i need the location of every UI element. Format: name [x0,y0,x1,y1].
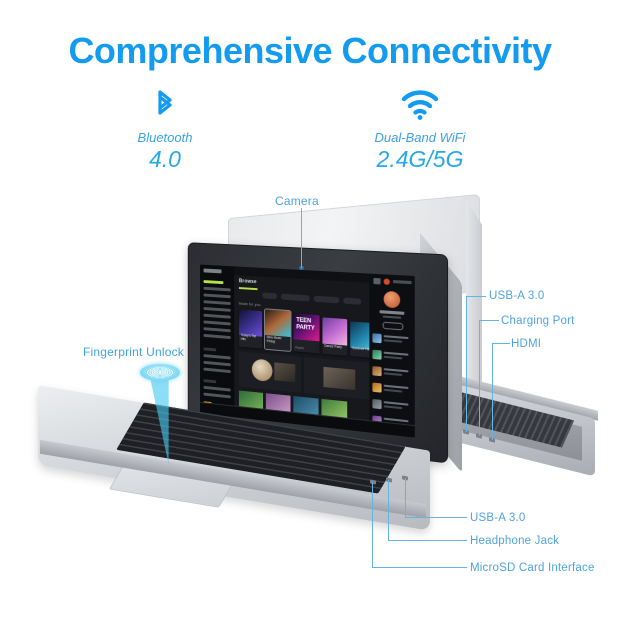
wifi-icon [330,88,510,124]
wifi-value: 2.4G/5G [330,146,510,173]
callout-fingerprint-unlock: Fingerprint Unlock [83,345,184,359]
profile-meta [383,315,402,318]
sidebar-item-chill-vibes[interactable] [204,386,231,392]
album-title: New Music Friday [267,335,291,345]
follow-button[interactable] [383,322,404,331]
sidebar-item-liked-songs[interactable] [204,320,231,325]
album-art: TEEN PARTY [293,313,319,341]
friend-item[interactable] [372,333,411,348]
sidebar-item-made-for-you[interactable] [204,307,231,312]
section-subtitle: Made for you [239,302,261,307]
wide-card-art [323,367,355,390]
bluetooth-label: Bluetooth [105,130,225,145]
friend-avatar [372,383,381,393]
screen-app: Browse Made for you Today's Top Hits New… [200,264,415,437]
sidebar-item-browse[interactable] [204,287,231,292]
sidebar-item-workout-mix[interactable] [204,393,231,399]
sidebar-item-albums[interactable] [204,327,231,332]
sidebar-section-stations [204,347,217,351]
wide-card[interactable] [239,351,301,392]
friend-avatar [372,333,381,343]
friend-item[interactable] [372,366,411,382]
sidebar-item-recently-played[interactable] [204,314,231,319]
friend-track [384,372,403,376]
album-title: Dance Party [324,343,341,348]
album-card[interactable]: Today's Top Hits [239,309,262,348]
page-title: Comprehensive Connectivity [0,30,620,72]
wide-card-art-2 [274,362,295,382]
leader-charging [479,320,480,436]
callout-charging-port: Charging Port [501,315,575,327]
panel-icon[interactable] [373,278,380,285]
sidebar-item-artists[interactable] [204,334,231,339]
leader-microsd-v [372,482,373,567]
sidebar-item-local-files[interactable] [204,368,231,373]
sidebar-item-podcasts[interactable] [204,354,231,359]
sidebar-item-home[interactable] [204,280,224,284]
active-tab-underline [239,287,258,290]
album-card[interactable]: Dance Party [322,317,347,355]
callout-microsd-card-interface: MicroSD Card Interface [470,562,595,574]
leader-usba-right [466,296,467,432]
laptop-screen: Browse Made for you Today's Top Hits New… [200,264,415,437]
album-subtitle: Playlist [295,345,304,350]
callout-usba-bottom: USB-A 3.0 [470,512,526,524]
notification-badge[interactable] [384,278,390,285]
friend-track [384,405,403,409]
sidebar-item-library[interactable] [204,300,231,305]
filter-pill-genres[interactable] [281,294,310,302]
leader-usba-bottom-h [405,517,467,518]
panel-title [393,280,412,284]
wide-card[interactable] [304,357,376,400]
app-page-title: Browse [239,278,257,285]
profile-name [380,310,405,314]
album-card[interactable]: New Music Friday [265,309,291,351]
friend-avatar [372,350,381,360]
bluetooth-value: 4.0 [105,146,225,173]
callout-headphone-jack: Headphone Jack [470,535,559,547]
sidebar-item-radio[interactable] [204,294,231,299]
filter-pill-new-releases[interactable] [314,296,340,304]
friend-item[interactable] [372,399,411,415]
friend-track [384,339,403,343]
wifi-label: Dual-Band WiFi [330,130,510,145]
leader-headphone-h [388,540,467,541]
infographic-canvas: Comprehensive Connectivity Bluetooth 4.0… [0,0,620,620]
leader-usba-right-h [466,296,486,297]
album-title: Today's Top Hits [241,333,262,343]
avatar[interactable] [384,291,401,309]
app-logo [204,269,222,274]
album-art [265,309,291,337]
wide-card-art [252,358,273,382]
callout-camera: Camera [275,194,319,208]
feature-wifi: Dual-Band WiFi 2.4G/5G [330,88,510,173]
filter-pill-charts[interactable] [262,292,277,299]
friend-avatar [372,399,381,409]
friend-track [384,389,403,393]
bluetooth-icon [105,88,225,124]
friend-track [384,356,403,360]
app-sidebar[interactable] [200,264,234,417]
callout-usba-right: USB-A 3.0 [489,290,545,302]
leader-usba-bottom-v [405,478,406,518]
leader-headphone-v [388,480,389,540]
callout-hdmi: HDMI [511,338,541,350]
friend-avatar [372,366,381,376]
leader-hdmi [492,343,493,440]
fingerprint-icon [146,367,174,378]
feature-bluetooth: Bluetooth 4.0 [105,88,225,173]
album-title: Summer Hits [352,345,371,351]
leader-microsd-h [372,567,467,568]
album-art [322,317,347,345]
album-art-text: TEEN PARTY [296,318,319,333]
friend-item[interactable] [372,383,411,399]
friend-item[interactable] [372,350,411,366]
sidebar-section-playlists [204,379,217,383]
leader-charging-h [479,320,499,321]
album-card[interactable]: TEEN PARTY Playlist [293,313,319,353]
leader-hdmi-h [492,343,510,344]
friend-activity-panel [369,274,414,438]
leader-camera [301,208,302,268]
filter-pill-discover[interactable] [343,298,361,305]
sidebar-item-stations[interactable] [204,361,231,366]
